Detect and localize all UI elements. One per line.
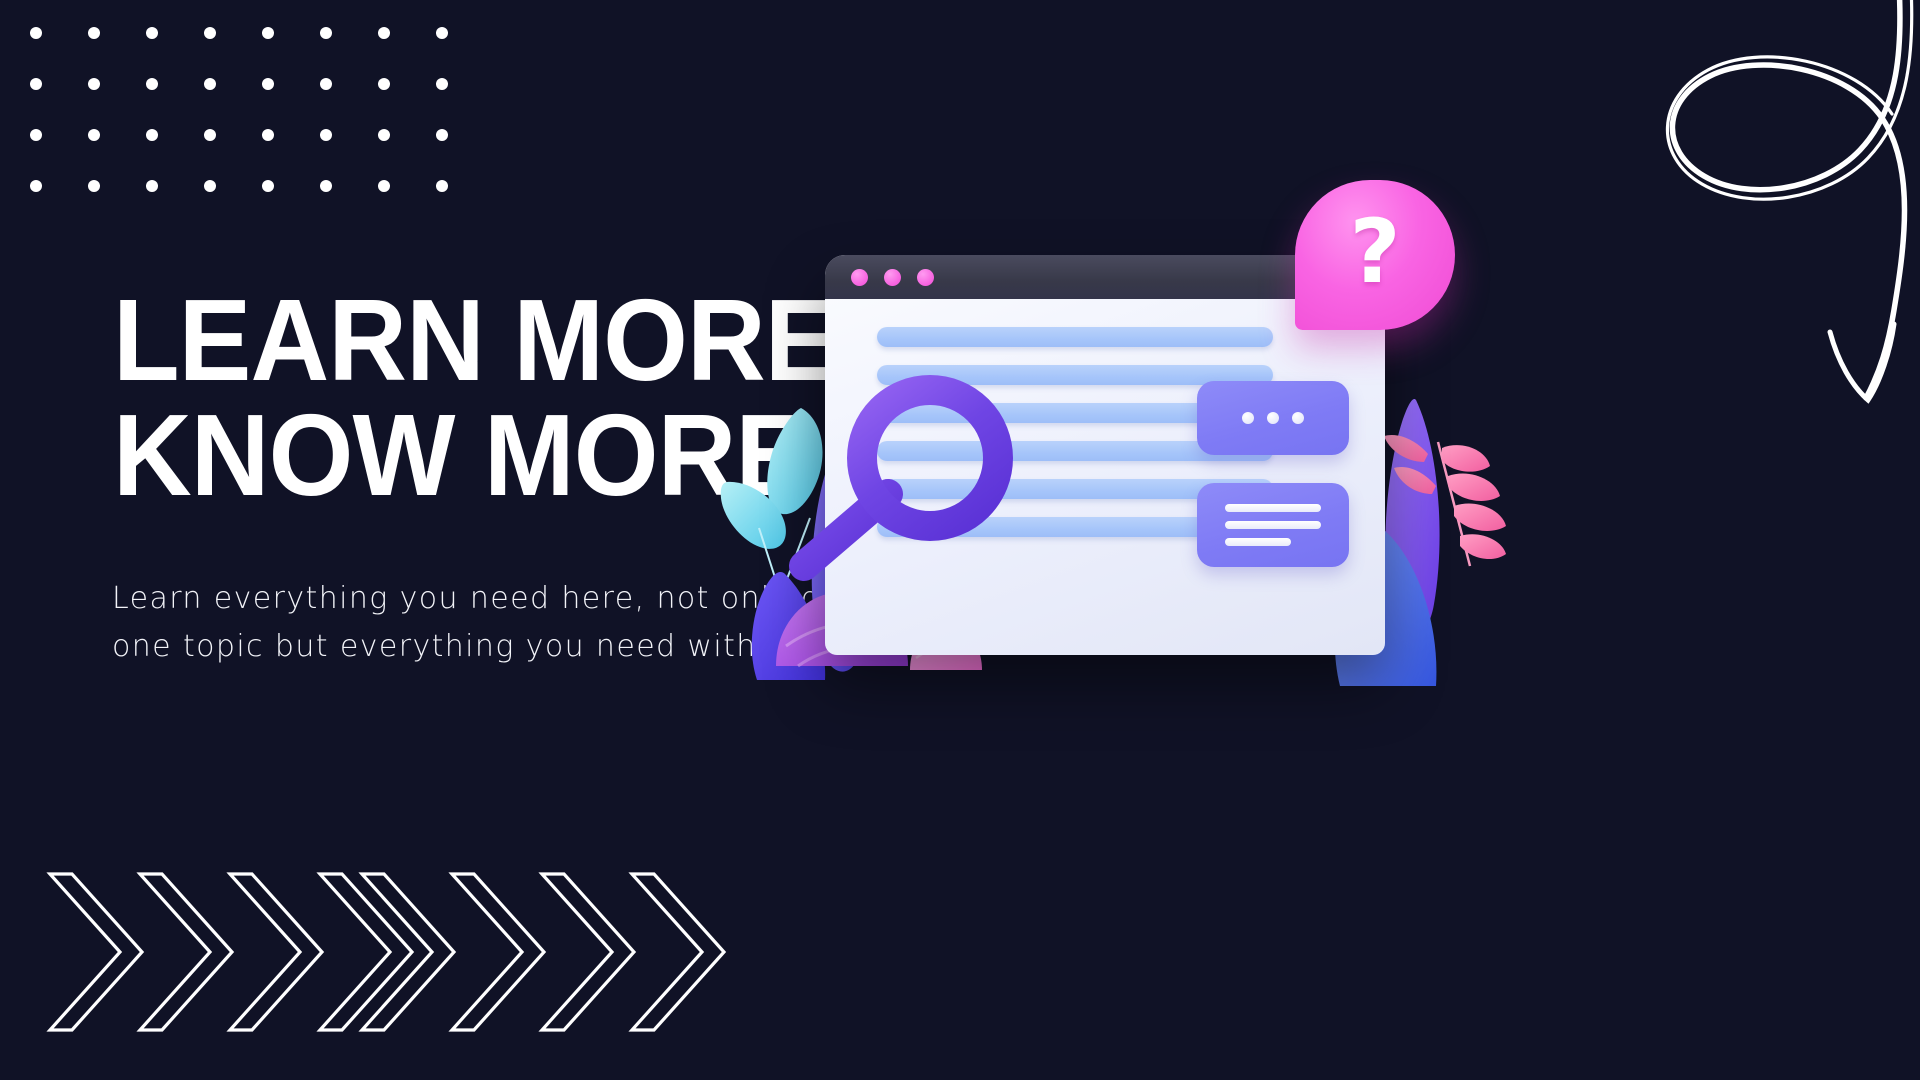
grid-dot xyxy=(320,78,332,90)
grid-dot xyxy=(204,27,216,39)
grid-dot xyxy=(262,27,274,39)
swirl-arrow-decoration xyxy=(1598,0,1920,410)
grid-dot xyxy=(262,180,274,192)
chevron-right-icon xyxy=(230,874,322,1030)
question-bubble[interactable]: ? xyxy=(1295,180,1455,330)
grid-dot xyxy=(204,78,216,90)
grid-dot xyxy=(378,180,390,192)
grid-dot xyxy=(436,27,448,39)
card-line xyxy=(1225,538,1291,546)
grid-dot xyxy=(30,129,42,141)
chevron-decoration xyxy=(28,862,728,1042)
grid-dot xyxy=(378,129,390,141)
window-dot-minimize[interactable] xyxy=(884,269,901,286)
grid-dot xyxy=(146,27,158,39)
search-illustration: ? xyxy=(720,240,1520,700)
grid-dot xyxy=(204,180,216,192)
grid-dot xyxy=(320,27,332,39)
grid-dot xyxy=(30,78,42,90)
grid-dot xyxy=(30,180,42,192)
grid-dot xyxy=(146,180,158,192)
grid-dot xyxy=(88,180,100,192)
card-line xyxy=(1225,521,1321,529)
grid-dot xyxy=(320,180,332,192)
chevron-right-icon xyxy=(140,874,232,1030)
dot-grid-decoration xyxy=(30,27,500,207)
chevron-right-icon xyxy=(320,874,412,1030)
grid-dot xyxy=(436,129,448,141)
grid-dot xyxy=(378,27,390,39)
leaf-pink-1 xyxy=(1442,445,1490,471)
magnifier-ring xyxy=(862,390,998,526)
leaf-pink-2 xyxy=(1448,473,1500,501)
grid-dot xyxy=(262,78,274,90)
side-card-list xyxy=(1197,381,1349,567)
chevron-right-icon xyxy=(542,874,634,1030)
leaf-pink-3 xyxy=(1454,503,1506,531)
grid-dot xyxy=(146,129,158,141)
grid-dot xyxy=(436,180,448,192)
card-dot xyxy=(1267,412,1279,424)
grid-dot xyxy=(378,78,390,90)
question-mark-icon: ? xyxy=(1349,208,1400,296)
card-line xyxy=(1225,504,1321,512)
grid-dot xyxy=(88,27,100,39)
grid-dot xyxy=(204,129,216,141)
grid-dot xyxy=(320,129,332,141)
grid-dot xyxy=(30,27,42,39)
grid-dot xyxy=(436,78,448,90)
dots-card[interactable] xyxy=(1197,381,1349,455)
grid-dot xyxy=(262,129,274,141)
chevron-right-icon xyxy=(362,874,454,1030)
grid-dot xyxy=(88,78,100,90)
content-bar xyxy=(877,327,1273,347)
card-dot xyxy=(1242,412,1254,424)
magnifying-glass-icon xyxy=(780,370,1040,620)
promo-banner: LEARN MORE KNOW MORE Learn everything yo… xyxy=(0,0,1920,1080)
grid-dot xyxy=(88,129,100,141)
chevron-right-icon xyxy=(452,874,544,1030)
lines-card[interactable] xyxy=(1197,483,1349,567)
chevron-right-icon xyxy=(50,874,142,1030)
window-dot-maximize[interactable] xyxy=(917,269,934,286)
grid-dot xyxy=(146,78,158,90)
arrowhead-icon xyxy=(1830,324,1894,400)
chevron-right-icon xyxy=(632,874,724,1030)
card-dot xyxy=(1292,412,1304,424)
swirl-loop-path-2 xyxy=(1667,0,1911,199)
window-dot-close[interactable] xyxy=(851,269,868,286)
